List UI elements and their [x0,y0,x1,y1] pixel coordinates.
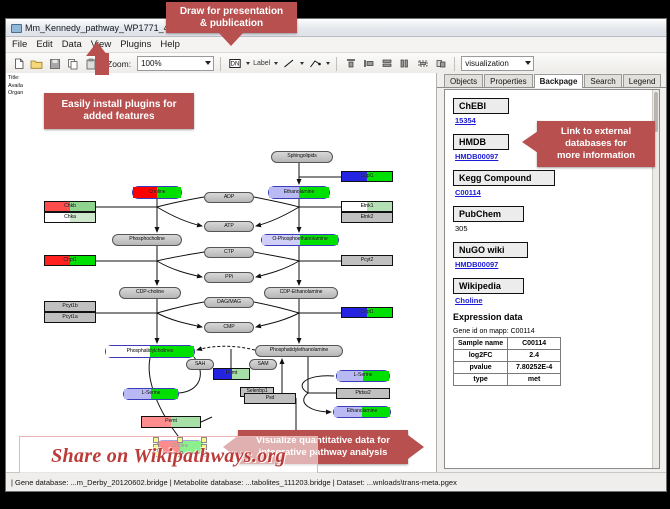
menu-item-data[interactable]: Data [62,39,82,50]
pathway-canvas-pane[interactable]: Title: Availa Organ [6,73,437,473]
gene-node-ptdss2[interactable]: Ptdss2 [336,388,390,399]
db-link-nugo[interactable]: HMDB00097 [455,260,651,269]
stack-rows-icon[interactable] [379,56,394,71]
callout-plugins: Easily install plugins for added feature… [44,93,194,129]
expression-row: log2FC2.4 [454,350,561,362]
stack-columns-icon[interactable] [397,56,412,71]
toolbar-separator [220,57,221,71]
db-header-hmdb: HMDB [453,134,509,150]
bring-front-icon[interactable] [433,56,448,71]
expression-row: Sample nameC00114 [454,338,561,350]
data-node-icon[interactable]: DN [227,56,242,71]
interaction-icon[interactable] [307,56,322,71]
node-label: Phosphatidylcholines [127,349,174,354]
expression-value: C00114 [508,338,561,350]
zoom-value: 100% [141,59,161,68]
align-top-icon[interactable] [343,56,358,71]
node-label: Pemt [226,371,238,376]
metabolite-node-phosphatidylcholines[interactable]: Phosphatidylcholines [105,345,195,358]
gene-node-pemt_left[interactable]: Pemt [141,416,201,428]
tab-properties[interactable]: Properties [484,74,532,87]
metabolite-node-cmp[interactable]: CMP [204,322,254,333]
group-icon[interactable] [415,56,430,71]
tab-objects[interactable]: Objects [444,74,483,87]
chevron-down-icon[interactable] [326,62,330,65]
metabolite-node-l-serine-right[interactable]: L-Serine [336,370,390,382]
gene-node-etnk2[interactable]: Etnk2 [341,212,393,223]
db-header-nugo: NuGO wiki [453,242,528,258]
open-folder-icon[interactable] [29,56,44,71]
toolbar-separator [454,57,455,71]
node-label: L-Serine [142,391,161,396]
chevron-down-icon[interactable] [274,62,278,65]
expression-value: met [508,374,561,386]
metabolite-node-ppi[interactable]: PPi [204,272,254,283]
node-label: CDP-choline [136,290,164,295]
node-label: SAH [195,362,205,367]
metabolite-node-dagmag[interactable]: DAG/MAG [204,297,254,308]
callout-link-text: Link to external databases for more info… [557,126,635,162]
gene-node-psd[interactable]: Psd [244,393,296,404]
chevron-down-icon [205,61,211,65]
metabolite-node-sphingolipids[interactable]: Sphingolipids [271,151,333,163]
callout-draw: Draw for presentation & publication [166,2,297,33]
line-icon[interactable] [281,56,296,71]
metabolite-node-choline_top[interactable]: Choline [132,186,182,199]
node-label: Chka [64,215,76,220]
db-header-chebi: ChEBI [453,98,509,114]
db-section-pubchem: PubChem 305 [453,204,651,233]
gene-node-chpt1[interactable]: Chpt1 [44,255,96,266]
expression-key: pvalue [454,362,508,374]
db-section-nugo: NuGO wiki HMDB00097 [453,240,651,269]
metabolite-node-o-phosphoethanolamine[interactable]: O-Phosphoethanolamine [261,234,339,246]
tab-search[interactable]: Search [584,74,621,87]
node-label: Phosphatidylethanolamine [270,348,328,353]
metabolite-node-l-serine-left[interactable]: L-Serine [123,388,179,400]
expression-row: typemet [454,374,561,386]
node-label: Chpt1 [63,258,76,263]
gene-node-chka[interactable]: Chka [44,212,96,223]
node-label: Cept1 [360,310,373,315]
gene-id-line: Gene id on mapp: C00114 [453,328,651,335]
db-value-pubchem: 305 [455,224,651,233]
db-header-kegg: Kegg Compound [453,170,555,186]
db-link-wikipedia[interactable]: Choline [455,296,651,305]
menu-item-plugins[interactable]: Plugins [120,39,151,50]
node-label: Ptdss2 [355,391,370,396]
node-label: Pcyt1a [62,315,77,320]
toolbar-separator [336,57,337,71]
node-label: Etnk1 [361,204,374,209]
gene-node-pemt_right[interactable]: Pemt [213,368,250,380]
gene-node-etnk1[interactable]: Etnk1 [341,201,393,212]
gene-node-cept1[interactable]: Cept1 [341,307,393,318]
callout-plugins-text: Easily install plugins for added feature… [61,99,176,123]
expression-data-heading: Expression data [453,312,651,322]
side-panel-tabs: Objects Properties Backpage Search Legen… [437,73,666,88]
metabolite-node-phosphatidylethanolamine[interactable]: Phosphatidylethanolamine [255,345,343,357]
node-label: PPi [225,275,233,280]
window-body: Title: Availa Organ [6,73,666,473]
zoom-combo[interactable]: 100% [137,56,214,71]
node-label: Pcyt2 [361,258,373,263]
node-label: DAG/MAG [217,300,241,305]
chevron-down-icon[interactable] [246,62,250,65]
metabolite-node-adp[interactable]: ADP [204,192,254,203]
metabolite-node-atp[interactable]: ATP [204,221,254,232]
metabolite-node-sah[interactable]: SAH [186,359,214,370]
expression-table: Sample nameC00114log2FC2.4pvalue7.80252E… [453,337,561,386]
node-label: Etnk2 [361,215,374,220]
metabolite-node-ethanolamine_top[interactable]: Ethanolamine [268,186,330,199]
expression-key: Sample name [454,338,508,350]
expression-value: 2.4 [508,350,561,362]
info-line-title: Title: [8,75,23,83]
align-left-icon[interactable] [361,56,376,71]
expression-key: type [454,374,508,386]
db-section-kegg: Kegg Compound C00114 [453,168,651,197]
tab-legend[interactable]: Legend [623,74,662,87]
pathway-info-labels: Title: Availa Organ [8,75,23,98]
gene-node-sgpl1[interactable]: Sgpl1 [341,171,393,182]
chevron-down-icon[interactable] [300,62,304,65]
save-disk-icon[interactable] [47,56,62,71]
tab-backpage[interactable]: Backpage [534,74,584,88]
gene-node-pcyt1b[interactable]: Pcyt1b [44,301,96,312]
expression-row: pvalue7.80252E-4 [454,362,561,374]
node-label: Psd [266,396,275,401]
node-label: SAM [258,362,269,367]
db-header-wikipedia: Wikipedia [453,278,524,294]
pathway-canvas[interactable]: SphingolipidsEthanolamineO-Phosphoethano… [6,73,436,473]
node-label: Phosphocholine [129,237,165,242]
copy-icon[interactable] [65,56,80,71]
node-label: Chkb [64,204,76,209]
metabolite-node-ctp[interactable]: CTP [204,247,254,258]
node-label: Pemt [165,419,177,424]
chevron-down-icon [525,61,531,65]
db-header-pubchem: PubChem [453,206,524,222]
share-banner: Share on Wikipathways.org [19,436,318,473]
gene-node-chkb[interactable]: Chkb [44,201,96,212]
node-label: Ethanolamine [284,190,315,195]
db-link-kegg[interactable]: C00114 [455,188,651,197]
svg-text:DN: DN [230,62,239,68]
info-line-availability: Availa [8,83,23,91]
node-label: Ethanolamine [347,409,378,414]
visualization-combo[interactable]: visualization [461,56,534,71]
metabolite-node-ethanolamine_bottom[interactable]: Ethanolamine [333,406,391,418]
node-label: Pcyt1b [62,304,77,309]
pathvisio-icon [10,22,21,33]
metabolite-node-sam[interactable]: SAM [249,359,277,370]
gene-node-pcyt1a[interactable]: Pcyt1a [44,312,96,323]
node-label: CTP [224,250,234,255]
window-titlebar: Mm_Kennedy_pathway_WP1771_45176.gpml [6,19,666,37]
db-section-wikipedia: Wikipedia Choline [453,276,651,305]
node-label: Sphingolipids [287,154,317,159]
node-label: Selenbp1 [246,389,267,394]
screenshot-root: Mm_Kennedy_pathway_WP1771_45176.gpml Fil… [0,0,670,509]
status-bar-text: | Gene database: ...m_Derby_20120602.bri… [11,478,457,487]
expression-key: log2FC [454,350,508,362]
node-label: Sgpl1 [361,174,374,179]
node-label: ADP [224,195,234,200]
metabolite-node-cdp-ethanolamine[interactable]: CDP-Ethanolamine [264,287,338,299]
metabolite-node-phosphocholine[interactable]: Phosphocholine [112,234,182,246]
status-bar: | Gene database: ...m_Derby_20120602.bri… [6,472,666,491]
label-tool-label[interactable]: Label [253,60,270,67]
callout-link: Link to external databases for more info… [537,121,655,167]
expression-value: 7.80252E-4 [508,362,561,374]
menu-item-file[interactable]: File [12,39,27,50]
application-window: Mm_Kennedy_pathway_WP1771_45176.gpml Fil… [5,18,667,492]
zoom-label: Zoom: [107,59,131,69]
menu-item-help[interactable]: Help [160,39,180,50]
menu-item-edit[interactable]: Edit [36,39,52,50]
info-line-organism: Organ [8,90,23,98]
node-label: CDP-Ethanolamine [280,290,323,295]
node-label: Choline [149,190,166,195]
visualization-value: visualization [465,59,509,68]
callout-draw-text: Draw for presentation & publication [180,6,283,30]
side-panel: Objects Properties Backpage Search Legen… [437,73,666,473]
node-label: O-Phosphoethanolamine [272,237,327,242]
node-label: L-Serine [354,373,373,378]
gene-node-pcyt2[interactable]: Pcyt2 [341,255,393,266]
new-file-icon[interactable] [11,56,26,71]
metabolite-node-cdp-choline[interactable]: CDP-choline [119,287,181,299]
node-label: ATP [224,224,233,229]
node-label: CMP [223,325,234,330]
share-banner-text: Share on Wikipathways.org [51,445,286,468]
